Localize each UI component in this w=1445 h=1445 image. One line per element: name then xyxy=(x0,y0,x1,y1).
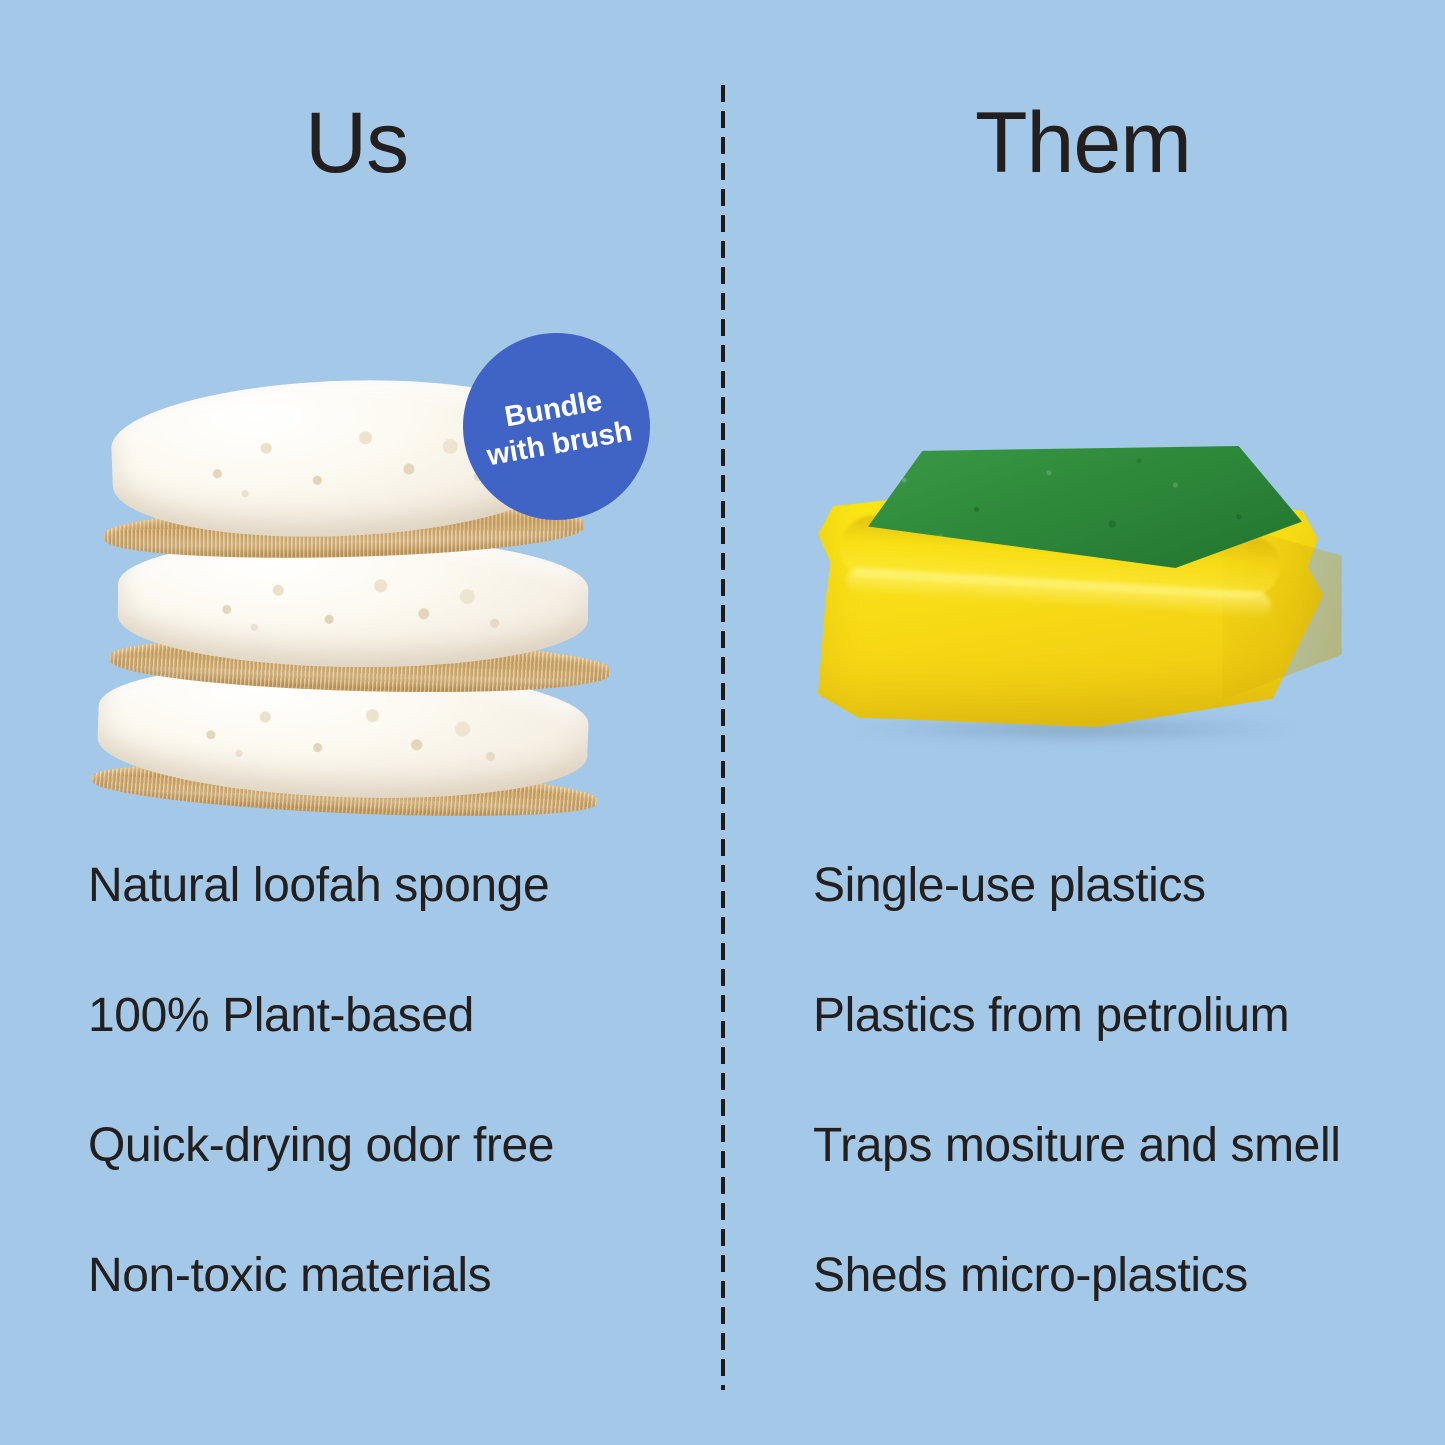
bundle-with-brush-badge: Bundle with brush xyxy=(463,333,650,520)
list-item: Plastics from petrolium xyxy=(813,992,1445,1122)
drawback-list-them: Single-use plastics Plastics from petrol… xyxy=(813,862,1445,1382)
list-item: Traps mositure and smell xyxy=(813,1122,1445,1252)
comparison-infographic: Us Bundle with brush Natural loofah spon… xyxy=(0,0,1445,1445)
column-heading-them: Them xyxy=(975,100,1191,186)
column-heading-us: Us xyxy=(305,100,408,186)
list-item: Sheds micro-plastics xyxy=(813,1252,1445,1382)
benefit-list-us: Natural loofah sponge 100% Plant-based Q… xyxy=(88,862,728,1382)
scrub-sponge-illustration xyxy=(810,430,1350,740)
list-item: 100% Plant-based xyxy=(88,992,728,1122)
badge-text: Bundle with brush xyxy=(448,318,665,535)
list-item: Quick-drying odor free xyxy=(88,1122,728,1252)
list-item: Non-toxic materials xyxy=(88,1252,728,1382)
list-item: Single-use plastics xyxy=(813,862,1445,992)
list-item: Natural loofah sponge xyxy=(88,862,728,992)
product-image-yellow-green-scrub-sponge xyxy=(800,420,1370,750)
